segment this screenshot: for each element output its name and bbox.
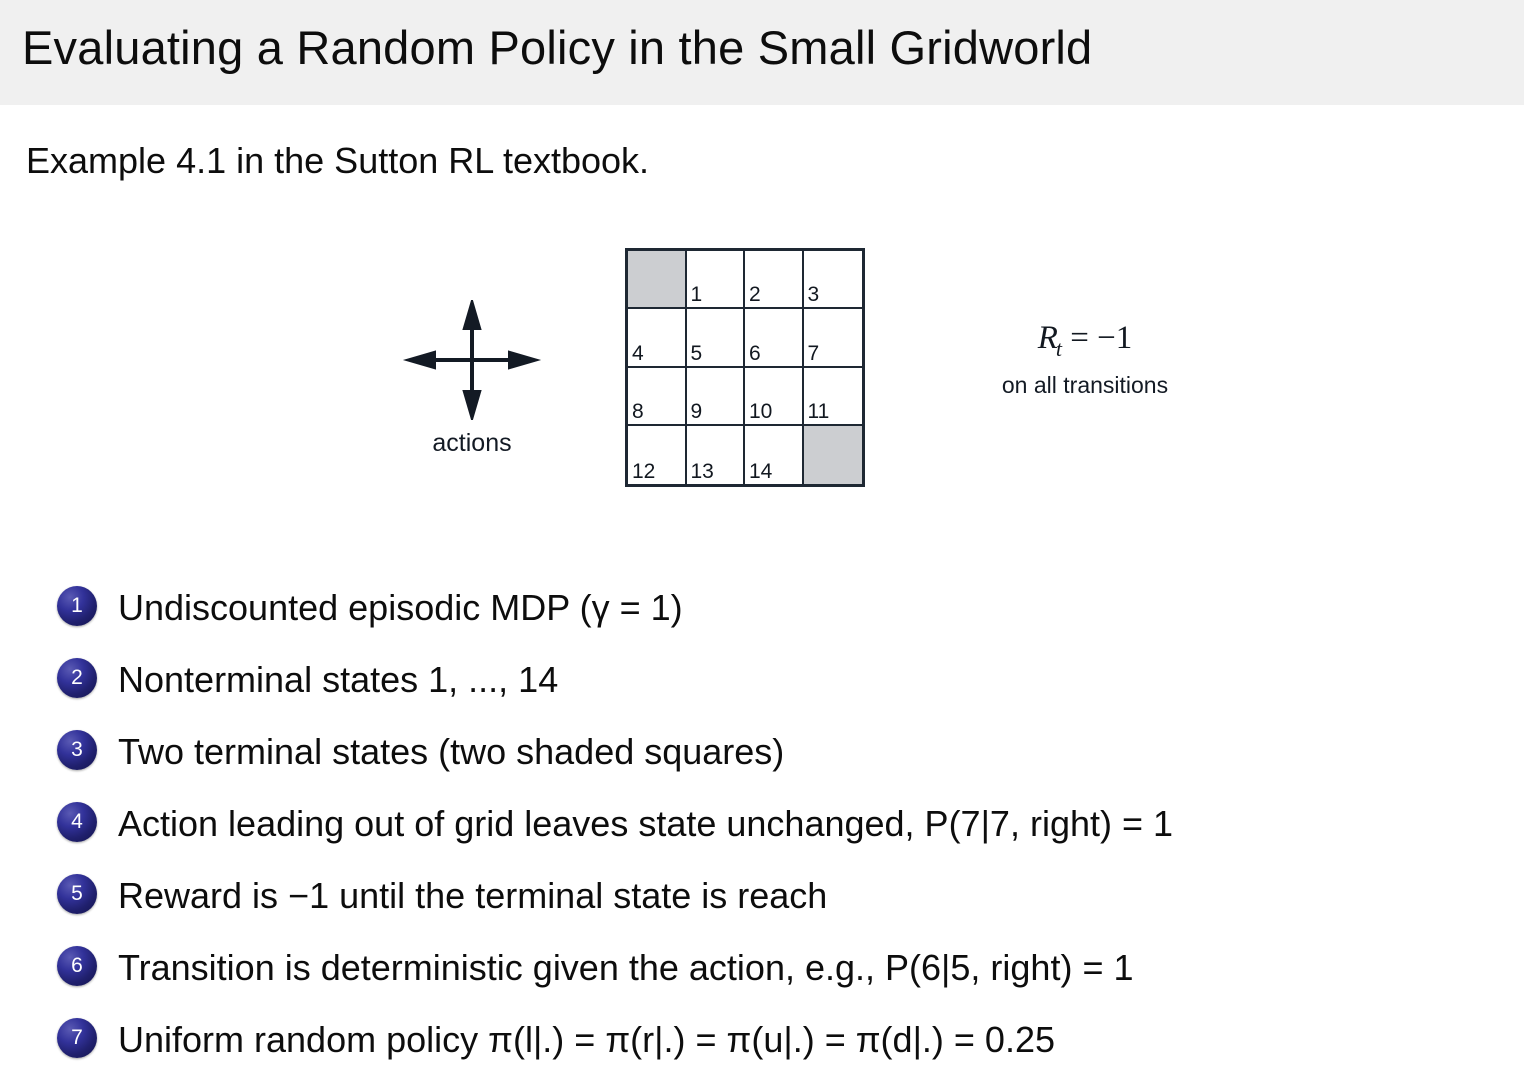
list-item: 4Action leading out of grid leaves state… <box>0 788 1524 860</box>
list-item: 6Transition is deterministic given the a… <box>0 932 1524 1004</box>
grid-cell-label: 3 <box>808 283 820 306</box>
grid-cell-state-5: 5 <box>687 309 746 367</box>
grid-cell-label: 8 <box>632 400 644 423</box>
list-item: 2Nonterminal states 1, ..., 14 <box>0 644 1524 716</box>
grid-cell-label: 11 <box>808 400 830 423</box>
grid-cell-state-14: 14 <box>745 426 804 484</box>
grid-cell-state-1: 1 <box>687 251 746 309</box>
list-item-badge: 7 <box>57 1018 97 1058</box>
grid-cell-label: 7 <box>808 342 820 365</box>
grid-cell-label: 10 <box>749 400 772 423</box>
actions-diagram: actions <box>396 300 548 480</box>
list-item-badge: 6 <box>57 946 97 986</box>
list-item-text: Transition is deterministic given the ac… <box>118 945 1134 991</box>
grid-cell-label: 9 <box>691 400 703 423</box>
slide-header-band: Evaluating a Random Policy in the Small … <box>0 0 1524 105</box>
grid-cell-terminal <box>804 426 863 484</box>
list-item-text: Action leading out of grid leaves state … <box>118 801 1173 847</box>
list-item-badge: 3 <box>57 730 97 770</box>
list-item-badge: 5 <box>57 874 97 914</box>
grid-cell-state-4: 4 <box>628 309 687 367</box>
list-item-badge: 1 <box>57 586 97 626</box>
gridworld-figure: actions 1234567891011121314 Rt = −1 on a… <box>0 230 1524 520</box>
properties-list: 1Undiscounted episodic MDP (γ = 1)2Nonte… <box>0 572 1524 1076</box>
list-item-text: Two terminal states (two shaded squares) <box>118 729 784 775</box>
grid-cell-label: 5 <box>691 342 703 365</box>
grid-cell-state-11: 11 <box>804 368 863 426</box>
grid-cell-state-9: 9 <box>687 368 746 426</box>
reward-symbol: R <box>1038 320 1058 356</box>
list-item: 3Two terminal states (two shaded squares… <box>0 716 1524 788</box>
grid-cell-state-12: 12 <box>628 426 687 484</box>
list-item: 1Undiscounted episodic MDP (γ = 1) <box>0 572 1524 644</box>
list-item-text: Reward is −1 until the terminal state is… <box>118 873 827 919</box>
grid-cell-state-6: 6 <box>745 309 804 367</box>
grid-cell-label: 1 <box>691 283 703 306</box>
list-item-text: Undiscounted episodic MDP (γ = 1) <box>118 585 683 631</box>
list-item-badge: 4 <box>57 802 97 842</box>
grid-cell-state-3: 3 <box>804 251 863 309</box>
reward-annotation: Rt = −1 on all transitions <box>935 318 1235 401</box>
list-item-text: Uniform random policy π(l|.) = π(r|.) = … <box>118 1017 1055 1063</box>
grid-cell-terminal <box>628 251 687 309</box>
page-title: Evaluating a Random Policy in the Small … <box>22 17 1092 79</box>
reward-rest: = −1 <box>1070 320 1132 356</box>
actions-label: actions <box>396 428 548 458</box>
grid-cell-state-2: 2 <box>745 251 804 309</box>
reward-subscript: t <box>1056 336 1062 361</box>
grid-cell-label: 2 <box>749 283 761 306</box>
reward-equation: Rt = −1 <box>935 318 1235 369</box>
list-item: 7Uniform random policy π(l|.) = π(r|.) =… <box>0 1004 1524 1076</box>
grid-cell-state-7: 7 <box>804 309 863 367</box>
list-item-badge: 2 <box>57 658 97 698</box>
subtitle-text: Example 4.1 in the Sutton RL textbook. <box>26 137 649 185</box>
grid-cell-state-13: 13 <box>687 426 746 484</box>
gridworld-grid: 1234567891011121314 <box>625 248 865 487</box>
grid-cell-label: 6 <box>749 342 761 365</box>
grid-cell-label: 4 <box>632 342 644 365</box>
grid-cell-state-8: 8 <box>628 368 687 426</box>
grid-cell-label: 13 <box>691 460 714 483</box>
list-item: 5Reward is −1 until the terminal state i… <box>0 860 1524 932</box>
reward-caption: on all transitions <box>935 369 1235 401</box>
four-way-arrow-cross-icon <box>396 300 548 420</box>
grid-cell-label: 14 <box>749 460 772 483</box>
list-item-text: Nonterminal states 1, ..., 14 <box>118 657 558 703</box>
grid-cell-label: 12 <box>632 460 655 483</box>
grid-cell-state-10: 10 <box>745 368 804 426</box>
